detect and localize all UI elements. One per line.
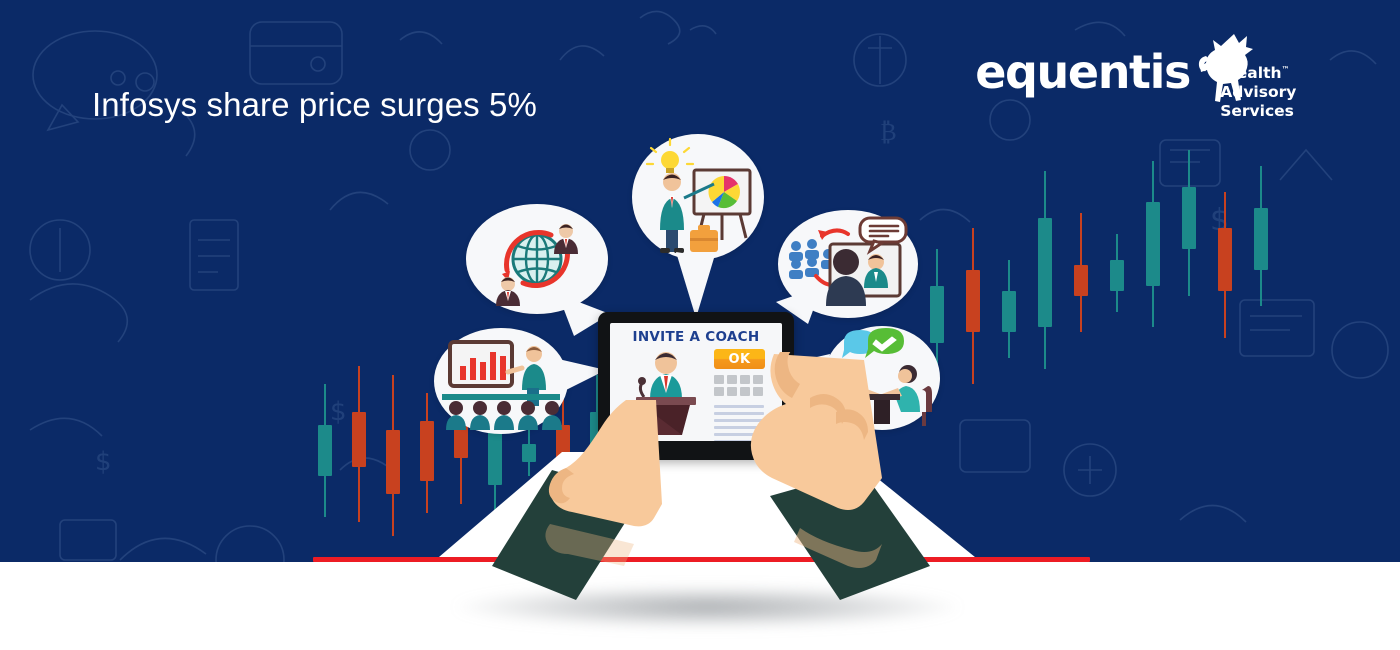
bubble-presentation — [632, 134, 764, 260]
brand-logo: equentis Wealth™ Advisory Services — [975, 38, 1260, 106]
tagline-line-3: Services — [1220, 102, 1296, 121]
candlestick — [1146, 161, 1160, 327]
right-hand-pointing-icon — [740, 352, 920, 586]
candlestick — [966, 228, 980, 384]
brand-wordmark: equentis — [975, 49, 1190, 95]
candlestick — [1110, 234, 1124, 312]
accent-divider-line — [313, 557, 1090, 562]
candlestick — [1002, 260, 1016, 359]
option-square[interactable] — [727, 375, 737, 384]
banner-canvas: $ $ $ $ ₿ Infosys share price surges 5% … — [0, 0, 1400, 650]
candlestick — [1218, 192, 1232, 338]
screen-title: INVITE A COACH — [610, 329, 782, 345]
option-square[interactable] — [714, 387, 724, 396]
tagline-line-1: Wealth — [1220, 64, 1281, 82]
page-title: Infosys share price surges 5% — [92, 86, 537, 124]
trademark-symbol: ™ — [1282, 65, 1290, 74]
presentation-pie-icon — [632, 134, 764, 260]
drop-shadow-ellipse — [455, 586, 960, 628]
candlestick — [1038, 171, 1052, 369]
brand-tagline: Wealth™ Advisory Services — [1220, 64, 1296, 121]
candlestick — [1254, 166, 1268, 306]
bubble-tail-presentation — [672, 250, 718, 320]
option-square[interactable] — [727, 387, 737, 396]
candlestick — [1182, 150, 1196, 296]
left-hand-holding-tablet-icon — [540, 398, 690, 588]
candlestick — [1074, 213, 1088, 333]
tagline-line-2: Advisory — [1220, 83, 1296, 102]
option-square[interactable] — [714, 375, 724, 384]
